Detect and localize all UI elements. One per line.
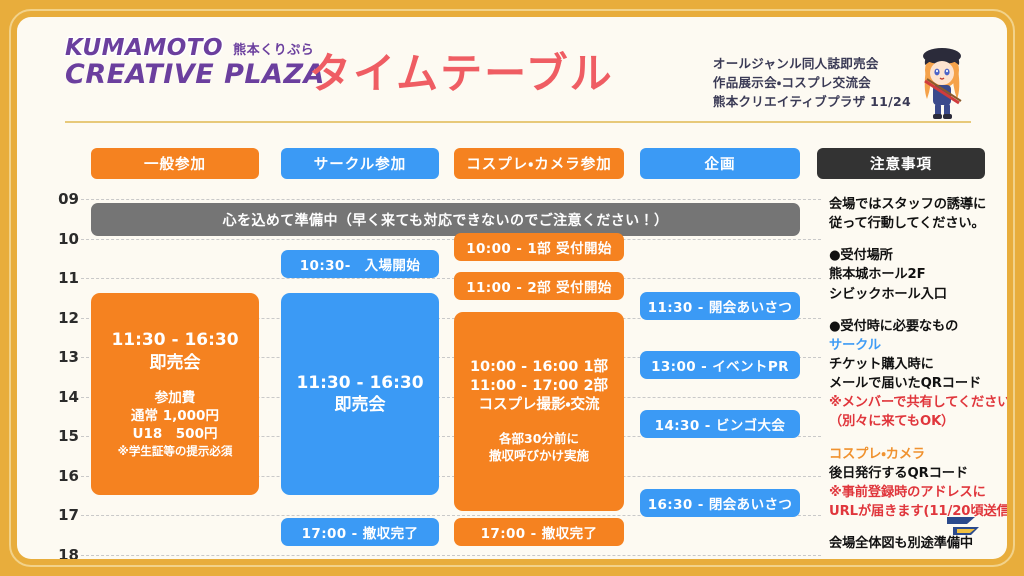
circle-main-block-line-1: 11:30 - 16:30 — [296, 372, 423, 394]
circle-teardown-pill[interactable]: 17:00 - 撤収完了 — [281, 518, 439, 546]
circle-entry-pill[interactable]: 10:30- 入場開始 — [281, 250, 439, 278]
notes-reception-line-1: 熊本城ホール2F — [829, 265, 1007, 284]
cosplay-main-block-line-1: 各部30分前に — [499, 431, 579, 448]
general-admission-block-line-2: 即売会 — [150, 352, 201, 374]
time-label-17: 17 — [49, 506, 79, 524]
time-label-16: 16 — [49, 467, 79, 485]
event-info-line-1: オールジャンル同人誌即売会 — [713, 54, 911, 73]
circle-main-block-line-2: 即売会 — [335, 394, 386, 416]
program-pill-4[interactable]: 16:30 - 閉会あいさつ — [640, 489, 800, 517]
cosplay-main-block-line-2: 撤収呼びかけ実施 — [489, 448, 589, 465]
event-info: オールジャンル同人誌即売会 作品展示会・コスプレ交流会 熊本クリエイティブプラザ… — [713, 54, 911, 111]
cosplay-teardown-pill[interactable]: 17:00 - 撤収完了 — [454, 518, 624, 546]
grid-line-18 — [81, 555, 821, 556]
mascot-icon — [911, 43, 973, 119]
column-header-1[interactable]: 一般参加 — [91, 148, 259, 179]
poster-frame: KUMAMOTO 熊本くりぷら CREATIVE PLAZA タイムテーブル オ… — [0, 0, 1024, 576]
grid-line-10 — [81, 239, 821, 240]
grid-line-11 — [81, 278, 821, 279]
notes-panel: 会場ではスタッフの誘導に 従って行動してください。 ●受付場所 熊本城ホール2F… — [829, 195, 1007, 553]
notes-intro-line-2: 従って行動してください。 — [829, 214, 1007, 233]
time-label-12: 12 — [49, 309, 79, 327]
cosplay-main-block[interactable]: 10:00 - 16:00 1部11:00 - 17:00 2部コスプレ撮影・交… — [454, 312, 624, 512]
brand-logo: KUMAMOTO 熊本くりぷら CREATIVE PLAZA — [65, 37, 325, 89]
column-header-4[interactable]: 企画 — [640, 148, 800, 179]
notes-reception-line-2: シビックホール入口 — [829, 285, 1007, 304]
notes-circle-line-1: チケット購入時に — [829, 355, 1007, 374]
cosplay-reception-2-pill[interactable]: 11:00 - 2部 受付開始 — [454, 272, 624, 300]
logo-japanese-subtitle: 熊本くりぷら — [233, 39, 314, 60]
time-label-15: 15 — [49, 427, 79, 445]
poster-card: KUMAMOTO 熊本くりぷら CREATIVE PLAZA タイムテーブル オ… — [17, 17, 1007, 559]
program-pill-1[interactable]: 11:30 - 開会あいさつ — [640, 292, 800, 320]
general-admission-block-line-2: 通常 1,000円 — [131, 408, 219, 426]
general-admission-block-note: ※学生証等の提示必須 — [118, 444, 233, 459]
notes-circle-subheading: サークル — [829, 336, 1007, 355]
header: KUMAMOTO 熊本くりぷら CREATIVE PLAZA タイムテーブル オ… — [17, 17, 1007, 105]
notes-cosplay-subheading: コスプレ・カメラ — [829, 445, 1007, 464]
cosplay-main-block-line-1: 10:00 - 16:00 1部 — [470, 358, 608, 377]
cosplay-reception-1-pill[interactable]: 10:00 - 1部 受付開始 — [454, 233, 624, 261]
notes-circle-caution-2: （別々に来てもOK） — [829, 412, 1007, 431]
time-label-10: 10 — [49, 230, 79, 248]
circle-main-block[interactable]: 11:30 - 16:30即売会 — [281, 293, 439, 496]
column-header-3[interactable]: コスプレ・カメラ参加 — [454, 148, 624, 179]
header-divider — [65, 121, 971, 123]
event-info-line-2: 作品展示会・コスプレ交流会 — [713, 73, 911, 92]
cosplay-main-block-line-3: コスプレ撮影・交流 — [479, 396, 600, 415]
program-pill-2[interactable]: 13:00 - イベントPR — [640, 351, 800, 379]
general-admission-block[interactable]: 11:30 - 16:30即売会参加費通常 1,000円U18 500円※学生証… — [91, 293, 259, 496]
notes-requirements-heading: ●受付時に必要なもの — [829, 317, 1007, 336]
program-pill-3[interactable]: 14:30 - ビンゴ大会 — [640, 410, 800, 438]
notes-circle-line-2: メールで届いたQRコード — [829, 374, 1007, 393]
notes-circle-caution-1: ※メンバーで共有してください — [829, 393, 1007, 412]
time-label-13: 13 — [49, 348, 79, 366]
column-header-5[interactable]: 注意事項 — [817, 148, 985, 179]
logo-kumamoto-text: KUMAMOTO — [65, 37, 223, 60]
general-admission-block-line-1: 11:30 - 16:30 — [111, 329, 238, 351]
logo-creative-plaza-text: CREATIVE PLAZA — [65, 61, 325, 89]
time-label-09: 09 — [49, 190, 79, 208]
notes-intro-line-1: 会場ではスタッフの誘導に — [829, 195, 1007, 214]
general-admission-block-line-1: 参加費 — [155, 390, 196, 408]
page-title: タイムテーブル — [309, 53, 614, 95]
time-label-11: 11 — [49, 269, 79, 287]
general-admission-block-line-3: U18 500円 — [133, 426, 218, 444]
notes-reception-heading: ●受付場所 — [829, 246, 1007, 265]
time-label-14: 14 — [49, 388, 79, 406]
prep-banner: 心を込めて準備中（早く来ても対応できないのでご注意ください！） — [91, 203, 800, 236]
cosplay-main-block-line-2: 11:00 - 17:00 2部 — [470, 377, 608, 396]
column-header-2[interactable]: サークル参加 — [281, 148, 439, 179]
organization-logo-icon — [945, 513, 981, 539]
column-headers: 一般参加サークル参加コスプレ・カメラ参加企画注意事項 — [17, 148, 1007, 182]
grid-line-09 — [81, 199, 821, 200]
time-label-18: 18 — [49, 546, 79, 560]
event-info-line-3: 熊本クリエイティブプラザ 11/24 — [713, 92, 911, 111]
notes-cosplay-caution-1: ※事前登録時のアドレスに — [829, 483, 1007, 502]
notes-cosplay-line-1: 後日発行するQRコード — [829, 464, 1007, 483]
